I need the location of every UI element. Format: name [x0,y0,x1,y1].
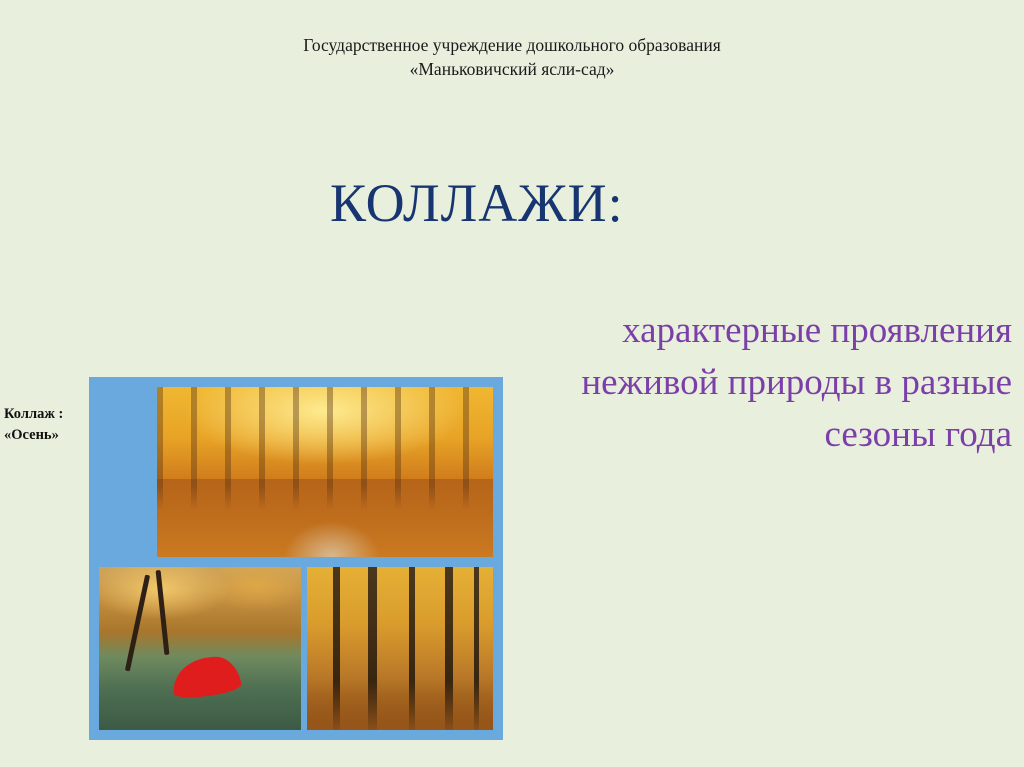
collage-caption-line1: Коллаж : [4,404,86,425]
page-title: КОЛЛАЖИ: [330,172,624,234]
collage-caption-line2: «Осень» [4,425,86,446]
page-subtitle: характерные проявления неживой природы в… [512,305,1012,461]
red-umbrella-shape [169,654,242,701]
collage-frame [89,377,503,740]
autumn-forest-photo [307,567,493,730]
institution-header-line2: «Маньковичский ясли-сад» [0,57,1024,81]
institution-header-line1: Государственное учреждение дошкольного о… [303,35,721,55]
presentation-slide: Государственное учреждение дошкольного о… [0,0,1024,767]
institution-header: Государственное учреждение дошкольного о… [0,33,1024,81]
autumn-pond-umbrella-photo [99,567,301,730]
collage-caption: Коллаж : «Осень» [4,404,86,446]
autumn-alley-photo [157,387,493,557]
